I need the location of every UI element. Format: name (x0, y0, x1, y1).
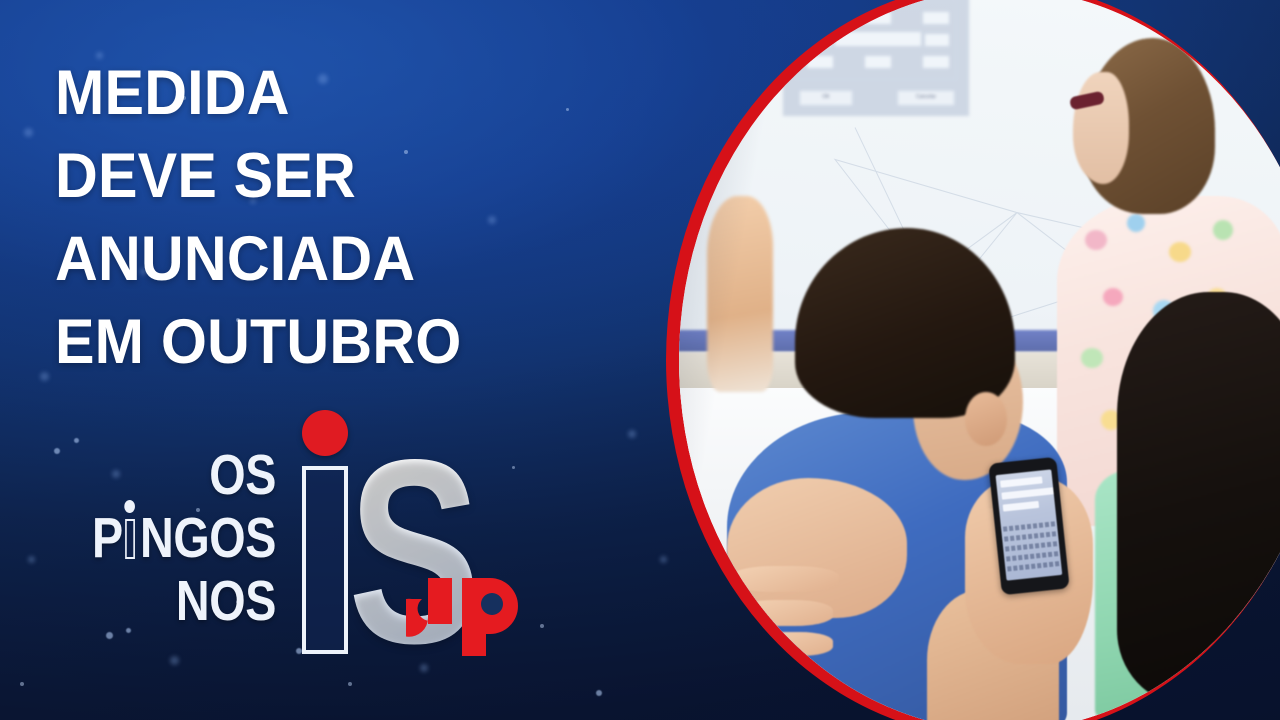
logo-line-os: OS (89, 444, 276, 507)
jovem-pan-logo-icon (406, 578, 518, 656)
dialog-ok-button[interactable]: OK (799, 90, 853, 106)
dotted-i-icon (124, 515, 140, 559)
background-child (707, 196, 773, 392)
logo-pingos-suffix: NGOS (140, 506, 276, 570)
student-ear (965, 392, 1007, 446)
hand-on-shoulder (727, 478, 907, 618)
broadcast-thumbnail: MEDIDA DEVE SER ANUNCIADA EM OUTUBRO OS … (0, 0, 1280, 720)
dialog-cancel-button[interactable]: Cancelar (897, 90, 955, 106)
photo-panel: OK Cancelar (666, 0, 1280, 720)
projected-dialog: OK Cancelar (783, 0, 969, 116)
logo-line-pingos: PNGOS (89, 507, 276, 570)
page-title: MEDIDA DEVE SER ANUNCIADA EM OUTUBRO (55, 52, 619, 384)
teacher-face (1073, 72, 1129, 184)
red-dot-icon (302, 410, 348, 456)
classroom-photo: OK Cancelar (679, 0, 1280, 720)
i-stem-outline (302, 466, 348, 654)
logo-pingos-prefix: P (92, 506, 123, 570)
photo-mask: OK Cancelar (679, 0, 1280, 720)
phone-screen (996, 469, 1063, 580)
logo-line-nos: NOS (89, 570, 276, 633)
student-dark-hair (1117, 292, 1280, 704)
program-logo-words: OS PNGOS NOS (89, 444, 276, 633)
smartphone[interactable] (988, 457, 1069, 595)
